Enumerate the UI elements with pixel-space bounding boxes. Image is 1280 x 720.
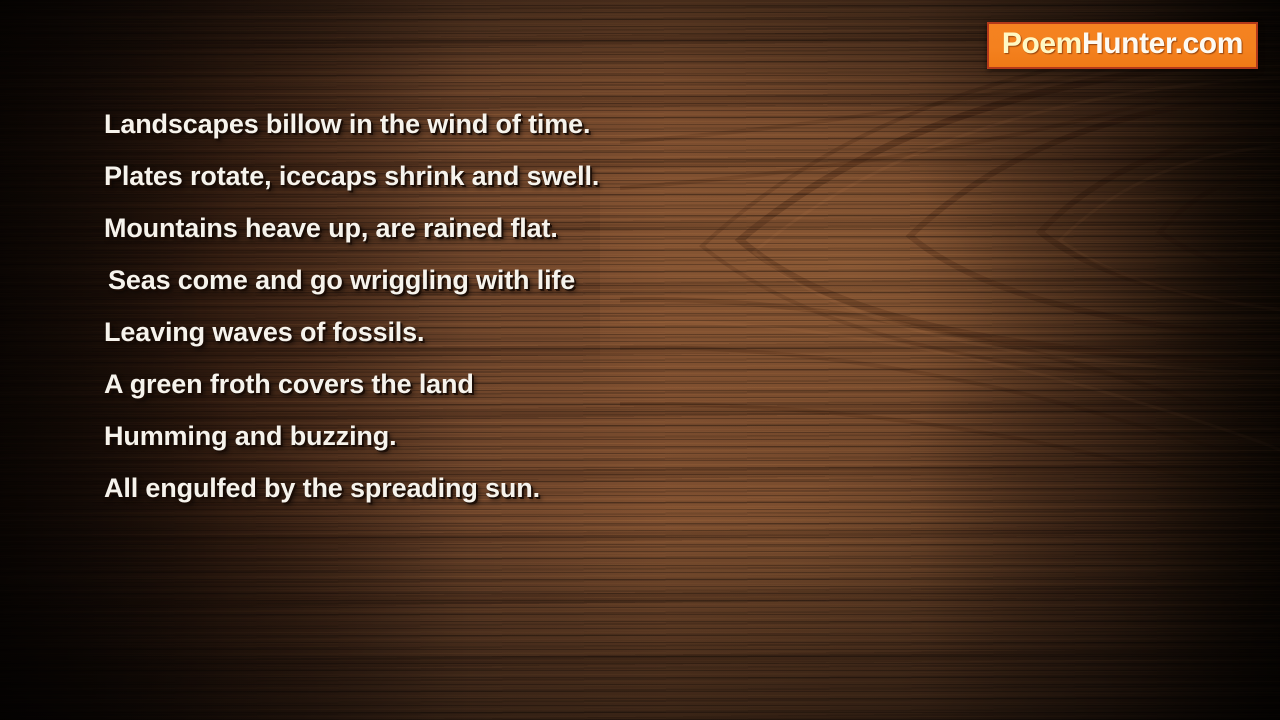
poem-line: A green froth covers the land	[104, 358, 804, 410]
poem-line: Humming and buzzing.	[104, 410, 804, 462]
poem-text-block: Landscapes billow in the wind of time. P…	[104, 98, 804, 514]
poem-line: Leaving waves of fossils.	[104, 306, 804, 358]
poem-line: All engulfed by the spreading sun.	[104, 462, 804, 514]
poem-line: Landscapes billow in the wind of time.	[104, 98, 804, 150]
poem-line: Seas come and go wriggling with life	[104, 254, 804, 306]
poem-line: Mountains heave up, are rained flat.	[104, 202, 804, 254]
poem-line: Plates rotate, icecaps shrink and swell.	[104, 150, 804, 202]
logo-text-poem: Poem	[1002, 27, 1082, 60]
poem-card: Landscapes billow in the wind of time. P…	[0, 0, 1280, 720]
poemhunter-logo[interactable]: PoemHunter.com	[987, 22, 1258, 69]
logo-text-hunter: Hunter.com	[1082, 27, 1243, 60]
